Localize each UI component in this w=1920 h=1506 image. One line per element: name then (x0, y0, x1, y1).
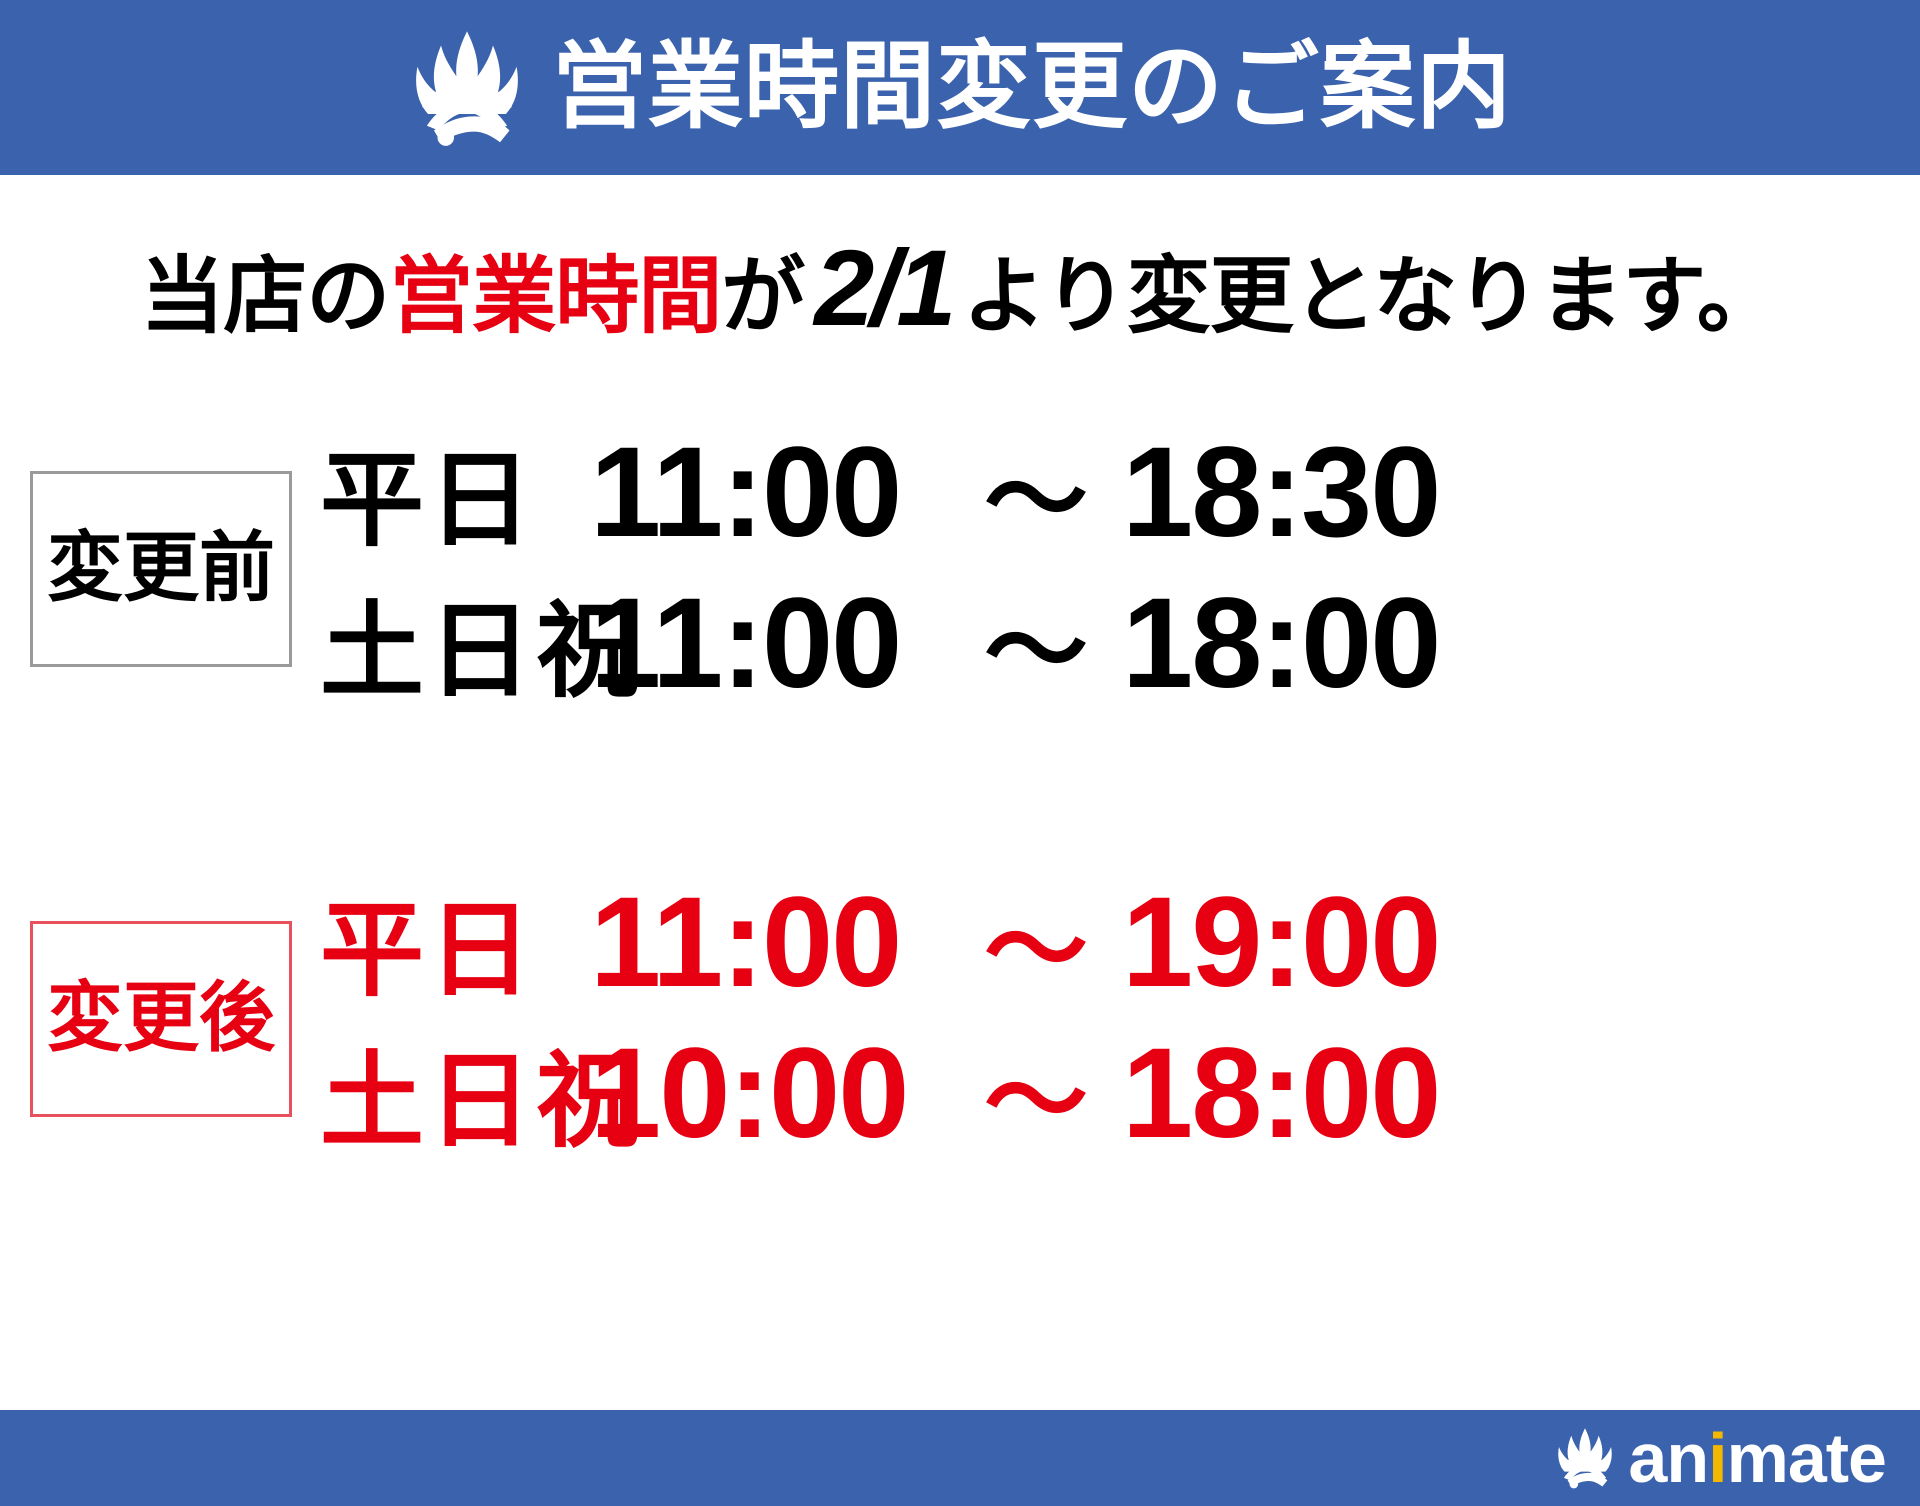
business-hours-change-poster: 営業時間変更のご案内 当店の営業時間が2/1より変更となります。 変更前 平日 … (0, 0, 1920, 1506)
row-close-time: 18:30 (1122, 428, 1439, 559)
row-day-label: 平日 (320, 448, 590, 554)
animate-flame-logo-icon (1554, 1427, 1616, 1489)
row-separator: ～ (950, 448, 1122, 554)
row-separator: ～ (950, 898, 1122, 1004)
row-separator: ～ (950, 599, 1122, 705)
announcement-date: 2/1 (804, 227, 962, 348)
announcement-part3: より変更となります。 (962, 249, 1779, 343)
badge-before: 変更前 (30, 471, 292, 667)
announcement-highlight: 営業時間 (389, 249, 721, 343)
row-close-time: 19:00 (1122, 878, 1439, 1009)
row-open-time: 11:00 (590, 878, 950, 1009)
schedule-rows-after: 平日 11:00 ～ 19:00 土日祝 10:00 ～ 18:00 (292, 878, 1920, 1159)
announcement-line: 当店の営業時間が2/1より変更となります。 (0, 234, 1920, 342)
badge-after-label: 変更後 (47, 981, 275, 1057)
row-close-time: 18:00 (1122, 1029, 1439, 1160)
poster-body: 当店の営業時間が2/1より変更となります。 変更前 平日 11:00 ～ 18:… (0, 178, 1920, 1410)
badge-before-label: 変更前 (47, 531, 275, 607)
row-open-time: 10:00 (590, 1029, 950, 1160)
announcement-part2: が (721, 249, 804, 343)
row-open-time: 11:00 (590, 428, 950, 559)
row-day-label: 平日 (320, 898, 590, 1004)
page-title: 営業時間変更のご案内 (552, 40, 1512, 135)
table-row: 土日祝 10:00 ～ 18:00 (320, 1029, 1920, 1160)
schedule-block-after: 変更後 平日 11:00 ～ 19:00 土日祝 10:00 ～ 18:00 (0, 878, 1920, 1159)
brand-part1: an (1628, 1423, 1708, 1493)
row-day-label: 土日祝 (320, 1049, 590, 1155)
table-row: 土日祝 11:00 ～ 18:00 (320, 579, 1920, 710)
row-separator: ～ (950, 1049, 1122, 1155)
table-row: 平日 11:00 ～ 19:00 (320, 878, 1920, 1009)
animate-brand-wordmark: animate (1628, 1423, 1886, 1493)
row-day-label: 土日祝 (320, 599, 590, 705)
schedule-rows-before: 平日 11:00 ～ 18:30 土日祝 11:00 ～ 18:00 (292, 428, 1920, 709)
animate-flame-logo-icon (408, 29, 526, 147)
poster-footer: animate (0, 1410, 1920, 1506)
brand-accent-letter: i (1708, 1423, 1726, 1493)
brand-part2: mate (1727, 1423, 1886, 1493)
row-close-time: 18:00 (1122, 579, 1439, 710)
poster-header: 営業時間変更のご案内 (0, 0, 1920, 178)
schedule-block-before: 変更前 平日 11:00 ～ 18:30 土日祝 11:00 ～ 18:00 (0, 428, 1920, 709)
row-open-time: 11:00 (590, 579, 950, 710)
badge-after: 変更後 (30, 921, 292, 1117)
announcement-part1: 当店の (140, 249, 389, 343)
table-row: 平日 11:00 ～ 18:30 (320, 428, 1920, 559)
